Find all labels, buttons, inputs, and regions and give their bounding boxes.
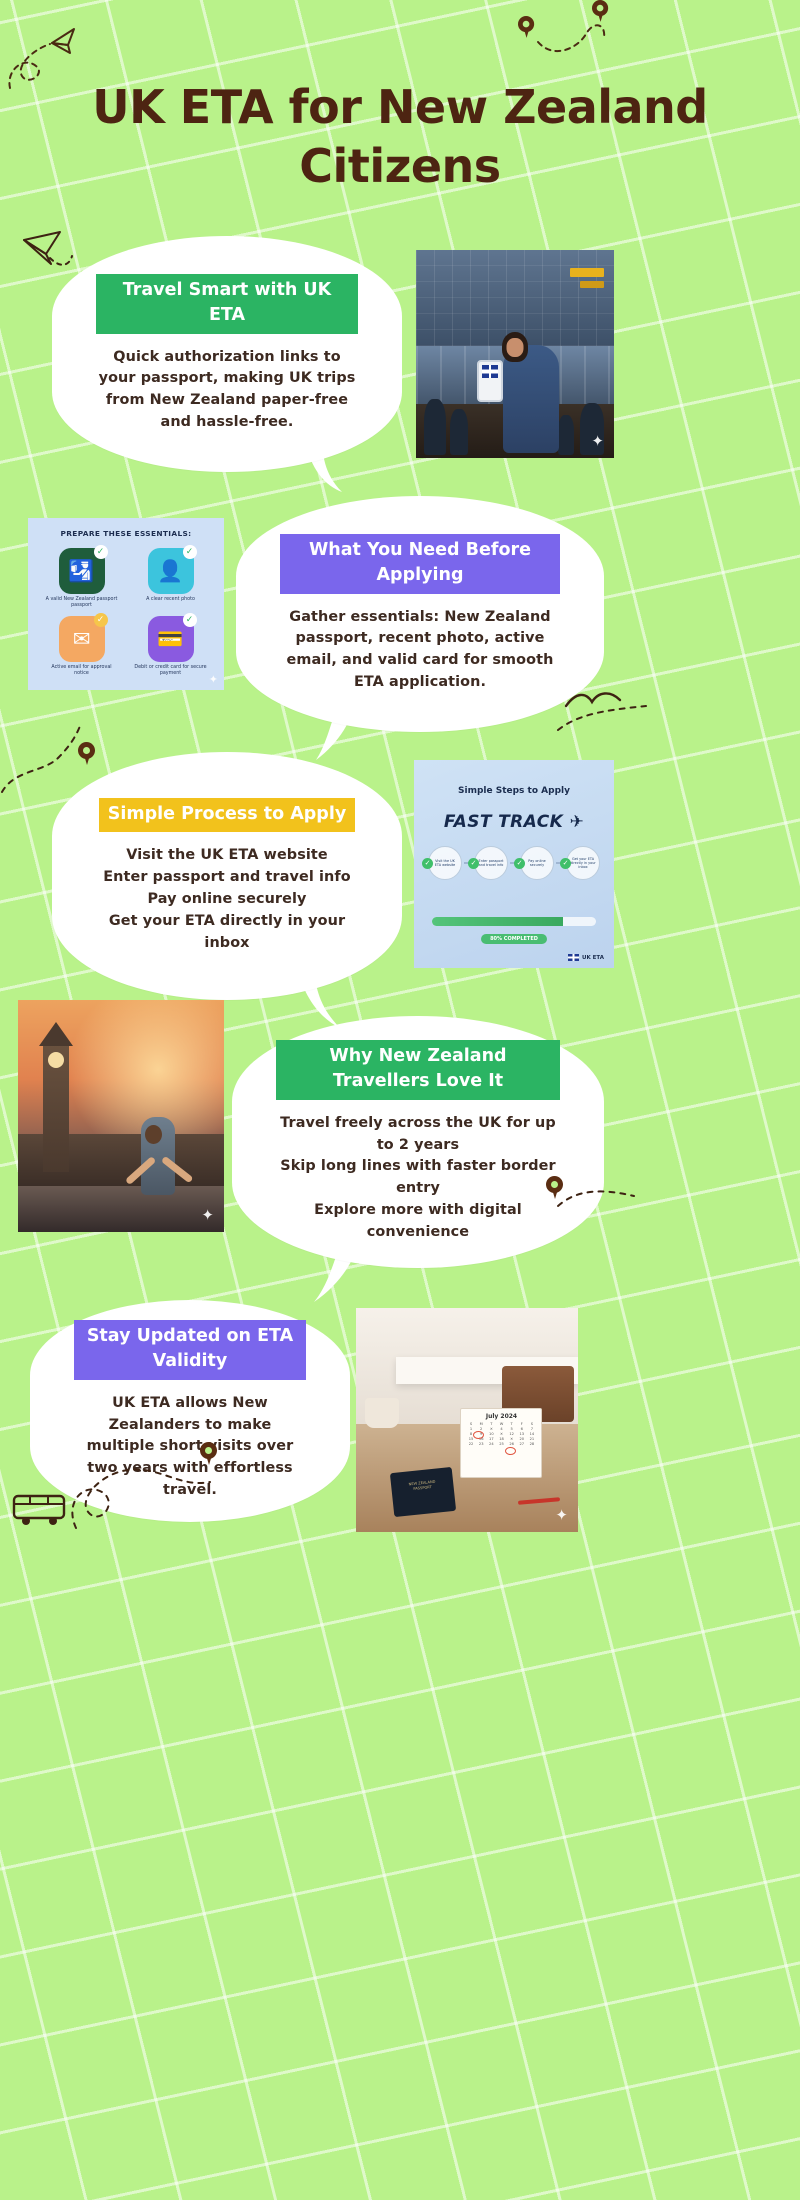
airport-traveller-photo: ✦ [416, 250, 614, 458]
dashed-path-doodle-topright [520, 18, 630, 90]
uk-flag-icon [568, 954, 579, 961]
essentials-caption: PREPARE THESE ESSENTIALS: [28, 529, 224, 538]
sparkle-icon: ✦ [555, 1506, 568, 1524]
fast-track-steps-graphic: Simple Steps to Apply FAST TRACK ✈ ✓Visi… [414, 760, 614, 968]
section-body-line: Explore more with digital convenience [276, 1200, 560, 1244]
progress-label-wrap: 80% COMPLETED [414, 925, 614, 944]
fast-track-step-label: Visit the UK ETA website [432, 859, 458, 868]
paper-plane-doodle-topleft [2, 10, 112, 100]
email-icon: ✉✓ [59, 616, 105, 662]
section-body-travel-smart: Quick authorization links to your passpo… [96, 347, 358, 435]
section-heading-what-you-need: What You Need Before Applying [280, 534, 560, 594]
section-body-line: Travel freely across the UK for up to 2 … [276, 1113, 560, 1157]
fast-track-step-label: Enter passport and travel info [478, 859, 504, 868]
passport-icon: 🛂✓ [59, 548, 105, 594]
dashed-path-doodle-section4 [556, 1180, 642, 1230]
fast-track-title: FAST TRACK ✈ [414, 812, 614, 832]
calendar-month: July 2024 [461, 1409, 541, 1422]
sparkle-icon: ✦ [201, 1206, 214, 1224]
section-body-line: Visit the UK ETA website [126, 845, 328, 867]
fast-track-step: ✓Enter passport and travel info [474, 846, 508, 880]
section-heading-why-love-it: Why New Zealand Travellers Love It [276, 1040, 560, 1100]
progress-label: 80% COMPLETED [481, 934, 547, 944]
check-icon: ✓ [94, 613, 108, 627]
check-icon: ✓ [94, 545, 108, 559]
essential-label: A clear recent photo [146, 597, 195, 603]
section-heading-travel-smart: Travel Smart with UK ETA [96, 274, 358, 334]
uk-eta-brand: UK ETA [568, 954, 604, 961]
desk-calendar: July 2024 SMTWTFS 12✕4567 8910✕121314 15… [460, 1408, 542, 1478]
brand-label: UK ETA [582, 955, 604, 961]
fast-track-step-label: Get your ETA directly in your inbox [570, 857, 596, 870]
big-ben-traveller-photo: ✦ [18, 1000, 224, 1232]
sparkle-icon: ✦ [209, 673, 218, 686]
essential-item: ✉✓ Active email for approval notice [42, 616, 121, 680]
passport-on-desk: NEW ZEALANDPASSPORT [389, 1467, 455, 1517]
section-heading-stay-updated: Stay Updated on ETA Validity [74, 1320, 306, 1380]
check-icon: ✓ [183, 613, 197, 627]
essential-item: 💳✓ Debit or credit card for secure payme… [131, 616, 210, 680]
section-heading-simple-process: Simple Process to Apply [99, 798, 355, 832]
credit-card-icon: 💳✓ [148, 616, 194, 662]
plane-icon: ✈ [569, 812, 584, 832]
speech-bubble-what-you-need: What You Need Before Applying Gather ess… [236, 496, 604, 732]
section-body-line: Enter passport and travel info [103, 867, 351, 889]
speech-bubble-why-love-it: Why New Zealand Travellers Love It Trave… [232, 1016, 604, 1268]
calendar-highlight [505, 1447, 516, 1455]
essential-label: Active email for approval notice [44, 665, 120, 678]
speech-bubble-simple-process: Simple Process to Apply Visit the UK ETA… [52, 752, 402, 1000]
fast-track-title-text: FAST TRACK [444, 812, 563, 832]
fast-track-step: ✓Pay online securely [520, 846, 554, 880]
speech-bubble-travel-smart: Travel Smart with UK ETA Quick authoriza… [52, 236, 402, 472]
essential-label: Debit or credit card for secure payment [133, 665, 209, 678]
check-icon: ✓ [183, 545, 197, 559]
page-title: UK ETA for New Zealand Citizens [32, 78, 768, 196]
fast-track-step: ✓Get your ETA directly in your inbox [566, 846, 600, 880]
essential-item: 🛂✓ A valid New Zealand passport passport [42, 548, 121, 612]
check-icon: ✓ [422, 858, 433, 869]
photo-id-icon: 👤✓ [148, 548, 194, 594]
section-body-what-you-need: Gather essentials: New Zealand passport,… [280, 607, 560, 695]
fast-track-step: ✓Visit the UK ETA website [428, 846, 462, 880]
essential-item: 👤✓ A clear recent photo [131, 548, 210, 612]
dashed-loop-doodle-bottom [62, 1432, 272, 1542]
desk-calendar-passport-photo: July 2024 SMTWTFS 12✕4567 8910✕121314 15… [356, 1308, 578, 1532]
essential-label: A valid New Zealand passport passport [44, 597, 120, 610]
fast-track-subtitle: Simple Steps to Apply [414, 786, 614, 796]
section-body-line: Get your ETA directly in your inbox [96, 911, 358, 955]
section-body-line: Pay online securely [147, 889, 306, 911]
section-body-line: Skip long lines with faster border entry [276, 1156, 560, 1200]
fast-track-step-label: Pay online securely [524, 859, 550, 868]
infographic-page: UK ETA for New Zealand Citizens Travel S… [0, 0, 800, 2000]
check-icon: ✓ [514, 858, 525, 869]
prepare-essentials-graphic: PREPARE THESE ESSENTIALS: 🛂✓ A valid New… [28, 518, 224, 690]
check-icon: ✓ [560, 858, 571, 869]
check-icon: ✓ [468, 858, 479, 869]
sparkle-icon: ✦ [591, 432, 604, 450]
paper-plane-doodle-bubble1 [14, 218, 94, 298]
